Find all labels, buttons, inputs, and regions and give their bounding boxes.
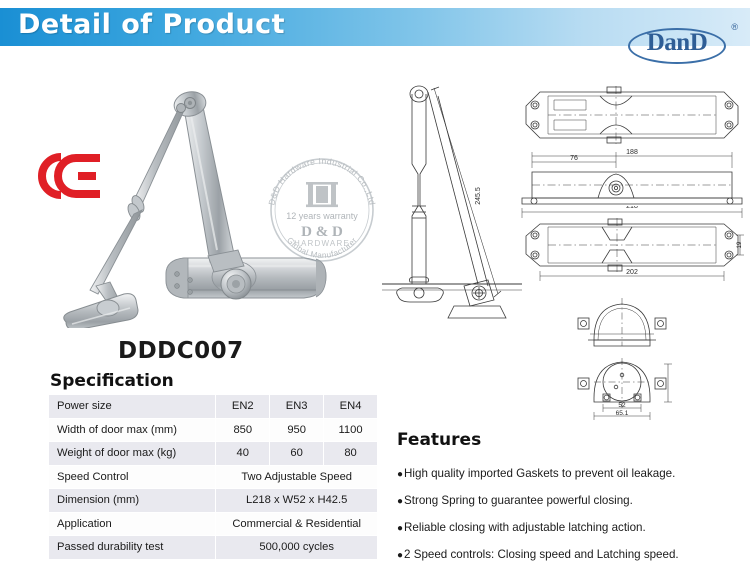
product-detail-page: Detail of Product DanD ® bbox=[0, 0, 750, 585]
watermark-emblem-icon bbox=[306, 182, 338, 207]
feature-text: Reliable closing with adjustable latchin… bbox=[404, 521, 646, 534]
dimension-label-245-5: 245.5 bbox=[475, 187, 482, 205]
features-heading: Features bbox=[397, 430, 481, 450]
feature-text: 2 Speed controls: Closing speed and Latc… bbox=[404, 548, 679, 561]
brand-logo: DanD ® bbox=[624, 22, 740, 66]
table-row: Weight of door max (kg) 40 60 80 bbox=[49, 442, 378, 466]
feature-text: High quality imported Gaskets to prevent… bbox=[404, 467, 675, 480]
spec-value: 1100 bbox=[324, 418, 378, 442]
dimension-label-188: 188 bbox=[626, 149, 638, 156]
technical-drawing-side-view-lower: 52 65.1 bbox=[572, 358, 672, 420]
bullet-icon: ● bbox=[397, 550, 403, 561]
spec-value: 80 bbox=[324, 442, 378, 466]
table-row: Passed durability test 500,000 cycles bbox=[49, 536, 378, 560]
spec-value: EN2 bbox=[216, 395, 270, 419]
watermark-brand-text: D & D bbox=[301, 224, 343, 240]
bullet-icon: ● bbox=[397, 523, 403, 534]
feature-list-item: ●Reliable closing with adjustable latchi… bbox=[397, 521, 646, 534]
spec-label: Passed durability test bbox=[49, 536, 216, 560]
table-row: Power size EN2 EN3 EN4 bbox=[49, 395, 378, 419]
spec-label: Weight of door max (kg) bbox=[49, 442, 216, 466]
dimension-label-52: 52 bbox=[618, 402, 626, 409]
registered-trademark-icon: ® bbox=[731, 22, 738, 32]
spec-value: EN4 bbox=[324, 395, 378, 419]
table-row: Width of door max (mm) 850 950 1100 bbox=[49, 418, 378, 442]
spec-label: Speed Control bbox=[49, 465, 216, 489]
dimension-label-65-1: 65.1 bbox=[616, 410, 629, 417]
spec-value: Commercial & Residential bbox=[216, 512, 378, 536]
product-model-name: DDDC007 bbox=[118, 338, 244, 364]
spec-value: Two Adjustable Speed bbox=[216, 465, 378, 489]
technical-drawing-arm-installation: 245.5 bbox=[382, 78, 522, 330]
spec-label: Application bbox=[49, 512, 216, 536]
certification-watermark-stamp: D&D Hardware Industrial Co.,Ltd Global M… bbox=[262, 150, 382, 270]
feature-text: Strong Spring to guarantee powerful clos… bbox=[404, 494, 633, 507]
watermark-brand-sub-text: HARDWARE bbox=[294, 239, 350, 248]
bullet-icon: ● bbox=[397, 469, 403, 480]
feature-list-item: ●Strong Spring to guarantee powerful clo… bbox=[397, 494, 633, 507]
page-title: Detail of Product bbox=[18, 9, 285, 40]
table-row: Application Commercial & Residential bbox=[49, 512, 378, 536]
technical-drawing-back-view: 218 202 19 bbox=[518, 206, 746, 286]
watermark-warranty-text: 12 years warranty bbox=[286, 211, 358, 221]
spec-value: 500,000 cycles bbox=[216, 536, 378, 560]
spec-value: 850 bbox=[216, 418, 270, 442]
feature-list-item: ●High quality imported Gaskets to preven… bbox=[397, 467, 675, 480]
table-row: Speed Control Two Adjustable Speed bbox=[49, 465, 378, 489]
technical-drawing-top-view: 188 76 bbox=[518, 84, 746, 206]
spec-label: Power size bbox=[49, 395, 216, 419]
spec-value: L218 x W52 x H42.5 bbox=[216, 489, 378, 513]
specification-heading: Specification bbox=[50, 371, 174, 391]
spec-value: 40 bbox=[216, 442, 270, 466]
dimension-label-76: 76 bbox=[570, 155, 578, 162]
table-row: Dimension (mm) L218 x W52 x H42.5 bbox=[49, 489, 378, 513]
dimension-label-202: 202 bbox=[626, 269, 638, 276]
spec-label: Width of door max (mm) bbox=[49, 418, 216, 442]
technical-drawing-side-view-upper bbox=[572, 292, 672, 352]
spec-label: Dimension (mm) bbox=[49, 489, 216, 513]
dimension-label-19: 19 bbox=[737, 241, 743, 248]
mounting-bracket bbox=[64, 282, 138, 328]
feature-list-item: ●2 Speed controls: Closing speed and Lat… bbox=[397, 548, 679, 561]
bullet-icon: ● bbox=[397, 496, 403, 507]
logo-brand-text: DanD bbox=[624, 29, 730, 57]
closer-main-arm bbox=[172, 89, 244, 272]
spec-value: EN3 bbox=[270, 395, 324, 419]
specification-table: Power size EN2 EN3 EN4 Width of door max… bbox=[48, 394, 378, 560]
spec-value: 60 bbox=[270, 442, 324, 466]
dimension-label-218: 218 bbox=[626, 206, 638, 210]
spec-value: 950 bbox=[270, 418, 324, 442]
